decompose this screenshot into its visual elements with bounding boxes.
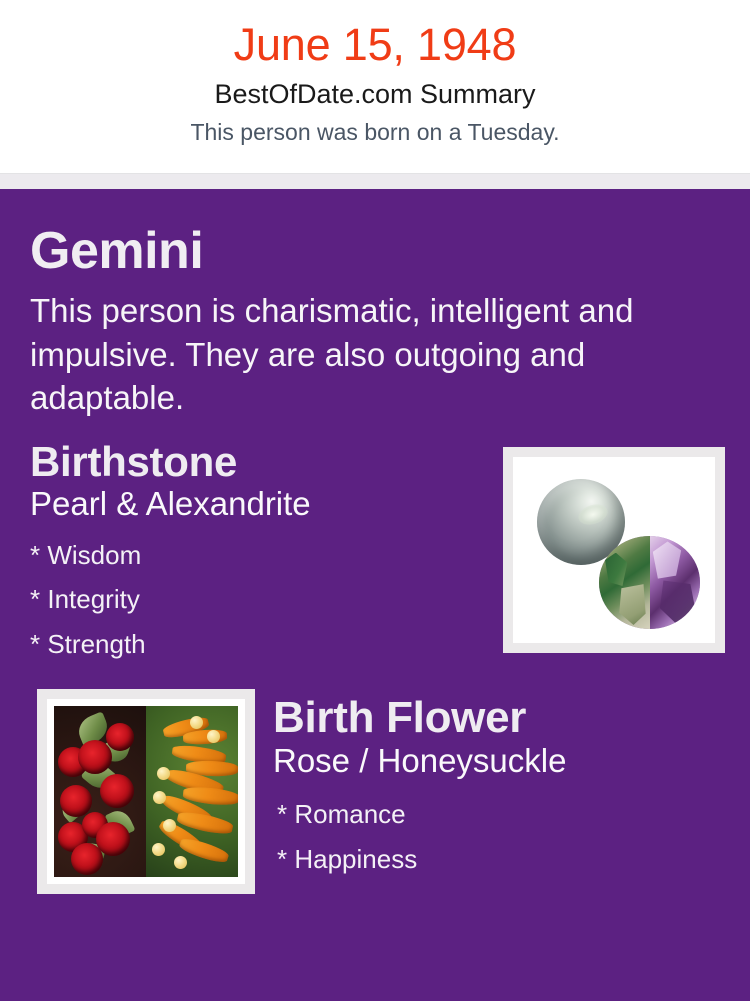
summary-panel: Gemini This person is charismatic, intel… (0, 189, 750, 1001)
list-item: * Happiness (277, 837, 750, 882)
list-item: * Wisdom (30, 533, 503, 578)
birth-flower-names: Rose / Honeysuckle (273, 743, 750, 780)
birthstone-names: Pearl & Alexandrite (30, 486, 503, 523)
birthstone-text-block: Birthstone Pearl & Alexandrite * Wisdom … (0, 440, 503, 667)
list-item: * Integrity (30, 577, 503, 622)
birth-flower-title: Birth Flower (273, 695, 750, 741)
header-divider (0, 173, 750, 189)
birthstone-image-card (503, 447, 725, 653)
birthstone-image-frame (513, 457, 715, 643)
birth-flower-text-block: Birth Flower Rose / Honeysuckle * Romanc… (273, 689, 750, 882)
zodiac-sign-title: Gemini (0, 189, 750, 277)
birth-flower-image-frame (47, 699, 245, 884)
birth-flower-image-card (37, 689, 255, 894)
page-header: June 15, 1948 BestOfDate.com Summary Thi… (0, 0, 750, 173)
list-item: * Romance (277, 792, 750, 837)
site-summary-label: BestOfDate.com Summary (0, 78, 750, 112)
list-item: * Strength (30, 622, 503, 667)
birth-flower-trait-list: * Romance * Happiness (273, 792, 750, 881)
rose-photo-half (54, 706, 146, 877)
born-weekday-text: This person was born on a Tuesday. (0, 118, 750, 147)
birthstone-trait-list: * Wisdom * Integrity * Strength (30, 533, 503, 667)
alexandrite-gem-icon (599, 536, 701, 629)
alexandrite-faceted-half (650, 536, 701, 629)
zodiac-description: This person is charismatic, intelligent … (0, 277, 750, 420)
birthstone-photo (520, 464, 708, 636)
honeysuckle-photo-half (146, 706, 238, 877)
alexandrite-rough-half (599, 536, 650, 629)
birth-flower-photo (54, 706, 238, 877)
birth-flower-section: Birth Flower Rose / Honeysuckle * Romanc… (0, 667, 750, 894)
page-title: June 15, 1948 (0, 22, 750, 68)
birthstone-title: Birthstone (30, 440, 503, 484)
birthstone-section: Birthstone Pearl & Alexandrite * Wisdom … (0, 420, 750, 667)
